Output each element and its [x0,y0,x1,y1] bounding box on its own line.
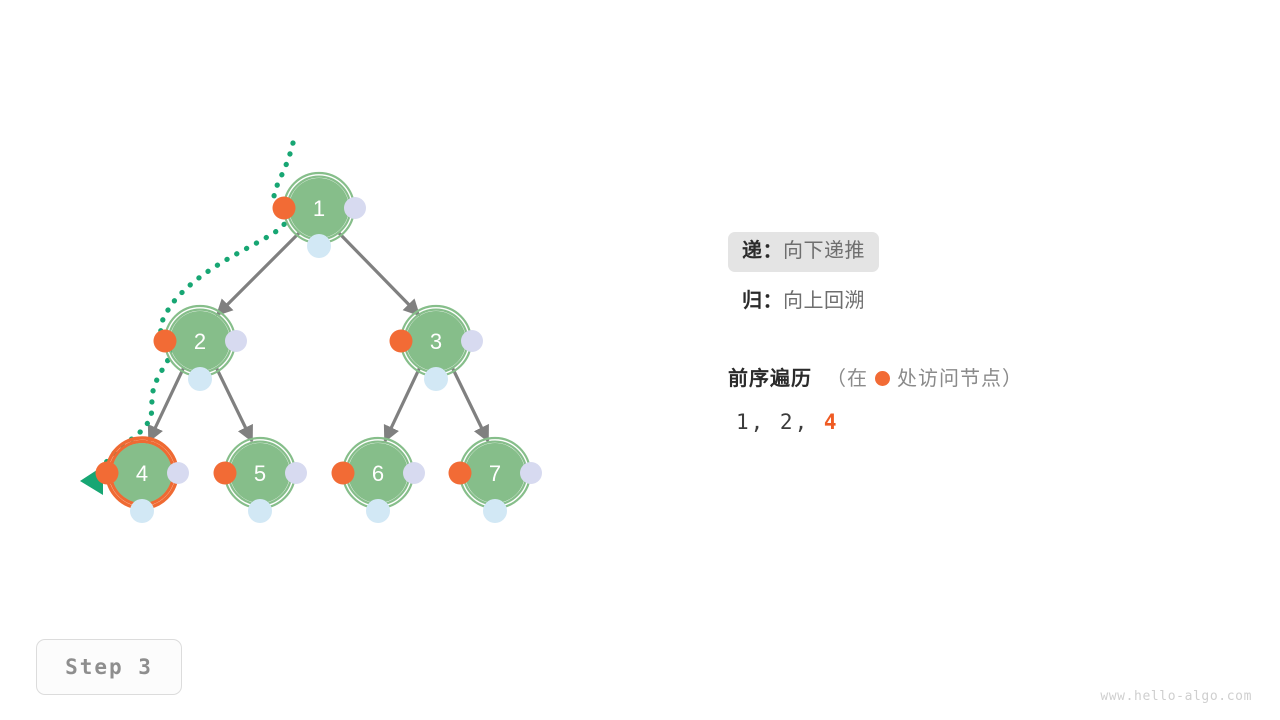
traversal-sequence-current: 4 [824,410,839,434]
legend-chip-recurse: 递：向下递推 [728,232,879,272]
node-bottom-dot-icon [366,499,390,523]
node-label: 6 [372,461,384,486]
edge-2-5 [216,367,252,441]
legend-panel: 递：向下递推 归：向上回溯 [728,232,1248,332]
edge-3-7 [452,367,488,441]
traversal-note-after: 处访问节点） [897,368,1023,390]
node-bottom-dot-icon [188,367,212,391]
node-bottom-dot-icon [130,499,154,523]
node-label: 1 [313,196,325,221]
traversal-order-title: 前序遍历 [728,362,812,391]
node-right-dot-icon [344,197,366,219]
node-right-dot-icon [225,330,247,352]
node-bottom-dot-icon [248,499,272,523]
tree-node-2[interactable]: 2 [154,306,248,391]
node-label: 4 [136,461,148,486]
legend-chip-backtrack: 归：向上回溯 [728,282,879,322]
legend-recurse-text: 向下递推 [783,241,865,261]
tree-node-5[interactable]: 5 [214,438,308,523]
node-label: 5 [254,461,266,486]
tree-nodes: 1234567 [96,173,543,523]
node-label: 3 [430,329,442,354]
orange-dot-icon [875,371,890,386]
node-visit-dot-icon [449,462,472,485]
traversal-note-before: （在 [826,368,868,390]
traversal-order-heading: 前序遍历 （在处访问节点） [728,362,1023,391]
edge-3-6 [385,367,420,441]
legend-row-recurse: 递：向下递推 [728,232,1248,272]
node-right-dot-icon [403,462,425,484]
traversal-order-note: （在处访问节点） [826,362,1023,391]
tree-node-7[interactable]: 7 [449,438,543,523]
binary-tree-diagram: 1234567 [0,0,1280,720]
node-right-dot-icon [167,462,189,484]
node-bottom-dot-icon [307,234,331,258]
tree-node-4[interactable]: 4 [96,438,190,523]
node-visit-dot-icon [332,462,355,485]
legend-backtrack-text: 向上回溯 [783,291,865,311]
illustration-canvas: 1234567 递：向下递推 归：向上回溯 前序遍历 （在处访问节点） 1, 2… [0,0,1280,720]
node-visit-dot-icon [96,462,119,485]
watermark: www.hello-algo.com [1100,689,1252,704]
node-visit-dot-icon [214,462,237,485]
node-right-dot-icon [520,462,542,484]
legend-row-backtrack: 归：向上回溯 [728,282,1248,322]
edge-2-4 [149,367,184,441]
step-badge-label: Step 3 [65,655,153,679]
legend-recurse-colon: ： [763,241,784,261]
tree-node-3[interactable]: 3 [390,306,484,391]
node-right-dot-icon [461,330,483,352]
tree-node-6[interactable]: 6 [332,438,426,523]
edge-1-3 [338,232,419,315]
node-right-dot-icon [285,462,307,484]
legend-backtrack-colon: ： [763,291,784,311]
traversal-sequence: 1, 2, 4 [736,410,839,434]
legend-recurse-keyword: 递 [742,241,763,261]
node-label: 7 [489,461,501,486]
node-visit-dot-icon [390,330,413,353]
node-label: 2 [194,329,206,354]
traversal-sequence-visited: 1, 2, [736,410,809,434]
node-visit-dot-icon [154,330,177,353]
node-visit-dot-icon [273,197,296,220]
node-bottom-dot-icon [424,367,448,391]
node-bottom-dot-icon [483,499,507,523]
legend-backtrack-keyword: 归 [742,291,763,311]
step-badge: Step 3 [36,639,182,695]
